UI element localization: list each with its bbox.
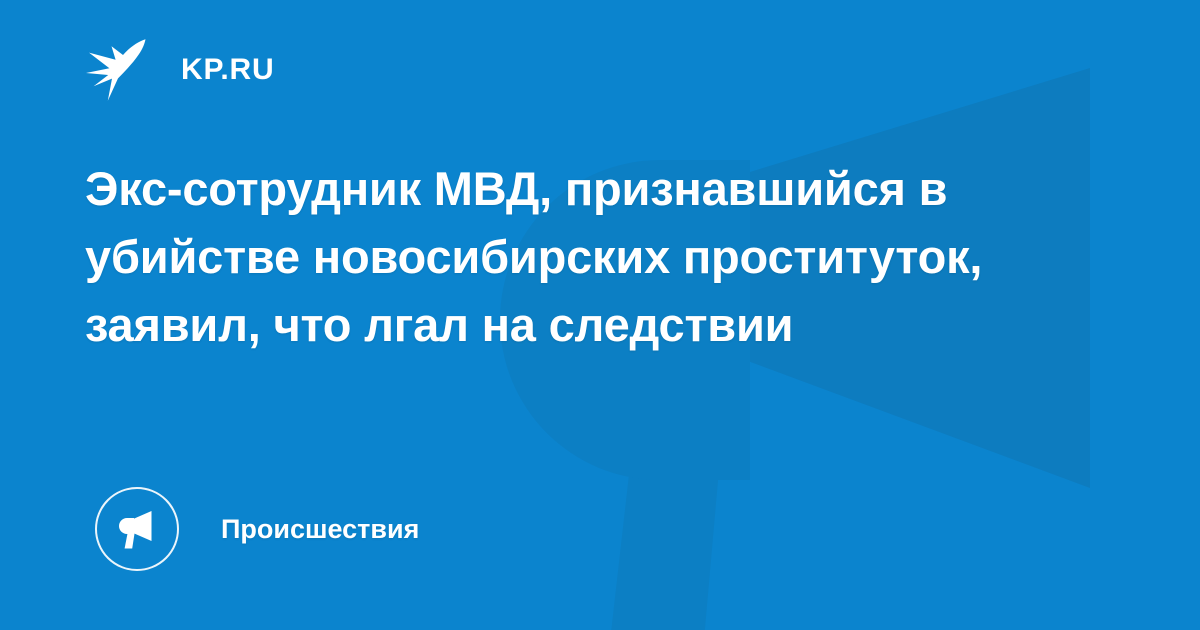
- category-label: Происшествия: [221, 516, 419, 543]
- category-icon-circle: [95, 487, 179, 571]
- swallow-bird-icon: [85, 38, 151, 102]
- news-share-card: KP.RU Экс-сотрудник МВД, признавшийся в …: [0, 0, 1200, 630]
- brand-wordmark: KP.RU: [181, 55, 274, 85]
- site-header: KP.RU: [85, 36, 274, 104]
- category-badge[interactable]: Происшествия: [95, 487, 419, 571]
- megaphone-icon: [115, 507, 159, 551]
- page-title: Экс-сотрудник МВД, признавшийся в убийст…: [85, 155, 985, 359]
